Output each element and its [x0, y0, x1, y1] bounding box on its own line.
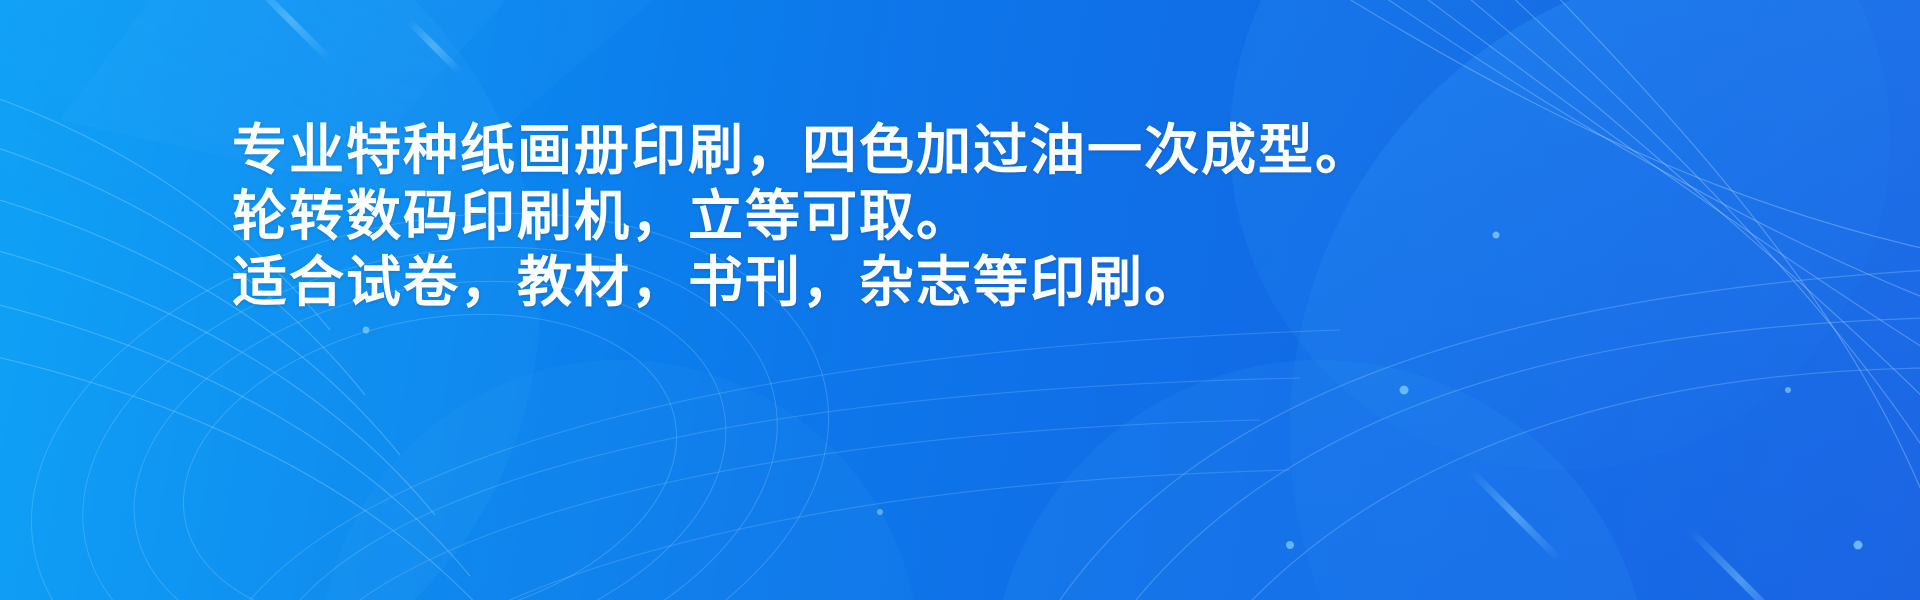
- promo-banner: 专业特种纸画册印刷，四色加过油一次成型。 轮转数码印刷机，立等可取。 适合试卷，…: [0, 0, 1920, 600]
- headline-line-2: 轮转数码印刷机，立等可取。: [232, 184, 1732, 250]
- circle-bottom-center: [320, 360, 1650, 600]
- arc-family-lower-right: [1060, 270, 1920, 600]
- arc-family-center: [250, 330, 1340, 600]
- headline-line-1: 专业特种纸画册印刷，四色加过油一次成型。: [232, 118, 1732, 184]
- headline-line-3: 适合试卷，教材，书刊，杂志等印刷。: [232, 250, 1732, 316]
- headline-text-block: 专业特种纸画册印刷，四色加过油一次成型。 轮转数码印刷机，立等可取。 适合试卷，…: [232, 118, 1732, 316]
